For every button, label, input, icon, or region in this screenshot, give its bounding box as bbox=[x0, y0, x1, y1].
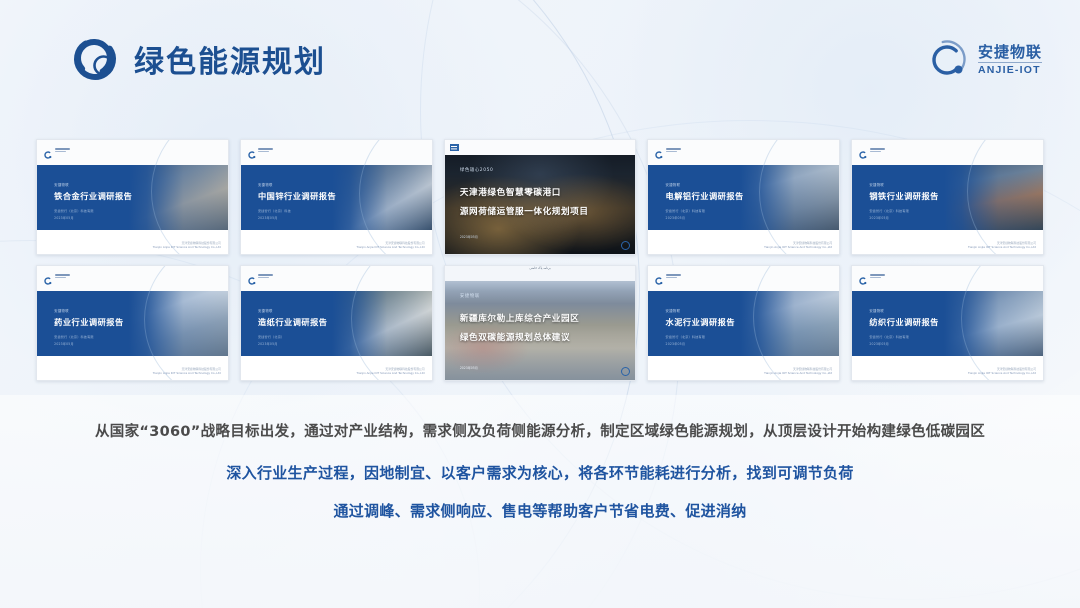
slide-title: 水泥行业调研报告 bbox=[666, 316, 736, 328]
slide-eyebrow: 安捷物联 bbox=[869, 308, 884, 313]
slide-footer: 天津安捷物联科技股份有限公司 Tianjin Anjie IOT Science… bbox=[968, 367, 1036, 375]
slide-logo-icon bbox=[248, 272, 274, 280]
slide-sub-line: 2023年05月 bbox=[666, 341, 706, 346]
slide-logo-icon bbox=[248, 146, 274, 154]
slide-thumbnail-grid: 安捷物联 铁合金行业调研报告 安捷智行（北京）科技有限 2023年05月 天津安… bbox=[36, 139, 1044, 381]
slide-subtitle: 安捷智行（北京）科技 2023年05月 bbox=[258, 208, 291, 220]
slide-title: 药业行业调研报告 bbox=[54, 316, 124, 328]
slide-date: 2023年05月 bbox=[460, 365, 478, 370]
slide-thumbnail[interactable]: 安捷物联 中国锌行业调研报告 安捷智行（北京）科技 2023年05月 天津安捷物… bbox=[240, 139, 433, 255]
anjie-ring-logo-icon bbox=[928, 40, 969, 81]
slide-header-bar bbox=[445, 140, 636, 155]
slide-thumbnail[interactable]: برنامه پاک خامنی 安捷物联 新疆库尔勒上库综合产业园区 绿色双碳… bbox=[444, 265, 637, 381]
slide-title-line-2: 绿色双碳能源规划总体建议 bbox=[460, 331, 570, 343]
slide-footer-en: Tianjin Anjie IOT Science And Technology… bbox=[357, 245, 425, 249]
slide-thumbnail[interactable]: 安捷物联 药业行业调研报告 安捷智行（北京）科技有限 2023年05月 天津安捷… bbox=[36, 265, 229, 381]
slide-arc-decoration bbox=[351, 265, 432, 381]
slide-arc-decoration bbox=[967, 139, 1044, 255]
slide-title-line-2: 源网荷储运管服一体化规划项目 bbox=[460, 205, 589, 217]
company-name-cn: 安捷物联 bbox=[978, 44, 1042, 61]
slide-subtitle: 安捷智行（北京）科技有限 2023年05月 bbox=[869, 334, 909, 346]
slide-thumbnail[interactable]: 安捷物联 钢铁行业调研报告 安捷智行（北京）科技有限 2023年05月 天津安捷… bbox=[851, 139, 1044, 255]
slide-title: 钢铁行业调研报告 bbox=[869, 190, 939, 202]
slide-footer-en: Tianjin Anjie IOT Science And Technology… bbox=[968, 245, 1036, 249]
slide-thumbnail[interactable]: 安捷物联 铁合金行业调研报告 安捷智行（北京）科技有限 2023年05月 天津安… bbox=[36, 139, 229, 255]
summary-line-3: 通过调峰、需求侧响应、售电等帮助客户节省电费、促进消纳 bbox=[0, 500, 1080, 521]
slide-logo-icon bbox=[859, 272, 885, 280]
slide-title: 纺织行业调研报告 bbox=[869, 316, 939, 328]
slide-logo-icon bbox=[655, 146, 681, 154]
slide-subtitle: 安捷智行（北京）科技有限 2023年05月 bbox=[666, 334, 706, 346]
slide-footer: 天津安捷物联科技股份有限公司 Tianjin Anjie IOT Science… bbox=[764, 241, 832, 249]
slide-sub-line: 2023年05月 bbox=[258, 215, 291, 220]
slide-footer: 天津安捷物联科技股份有限公司 Tianjin Anjie IOT Science… bbox=[153, 367, 221, 375]
slide-title-line-1: 天津港绿色智慧零碳港口 bbox=[460, 186, 561, 198]
slide-sub-line: 安捷智行（北京）科技有限 bbox=[666, 334, 706, 339]
slide-arc-decoration bbox=[144, 265, 229, 381]
slide-footer-en: Tianjin Anjie IOT Science And Technology… bbox=[764, 371, 832, 375]
slide-footer-en: Tianjin Anjie IOT Science And Technology… bbox=[153, 245, 221, 249]
slide-title: 造纸行业调研报告 bbox=[258, 316, 328, 328]
slide-title: 铁合金行业调研报告 bbox=[54, 190, 132, 202]
slide-arc-decoration bbox=[961, 265, 1044, 381]
slide-eyebrow: 绿色雄心2050 bbox=[460, 167, 494, 173]
slide-footer: 天津安捷物联科技股份有限公司 Tianjin Anjie IOT Science… bbox=[764, 367, 832, 375]
summary-line-1: 从国家“3060”战略目标出发，通过对产业结构，需求侧及负荷侧能源分析，制定区域… bbox=[0, 420, 1080, 441]
slide-logo-icon bbox=[655, 272, 681, 280]
slide-sub-line: 安捷智行（北京）科技有限 bbox=[869, 208, 909, 213]
slide-eyebrow: 安捷物联 bbox=[869, 182, 884, 187]
slide-thumbnail[interactable]: 绿色雄心2050 天津港绿色智慧零碳港口 源网荷储运管服一体化规划项目 2023… bbox=[444, 139, 637, 255]
slide-subtitle: 安捷智行（北京）科技有限 2023年05月 bbox=[54, 208, 94, 220]
slide-eyebrow: 安捷物联 bbox=[54, 182, 69, 187]
slide-footer-en: Tianjin Anjie IOT Science And Technology… bbox=[357, 371, 425, 375]
slide-arc-decoration bbox=[759, 139, 840, 255]
slide-arc-decoration bbox=[151, 139, 228, 255]
company-name-en: ANJIE-IOT bbox=[978, 62, 1042, 78]
slide-eyebrow: 安捷物联 bbox=[666, 182, 681, 187]
slide-logo-icon bbox=[44, 146, 70, 154]
slide-arc-decoration bbox=[359, 139, 433, 255]
slide-subtitle: 安捷智行（北京）科技有限 2023年05月 bbox=[666, 208, 706, 220]
slide-footer: 天津安捷物联科技股份有限公司 Tianjin Anjie IOT Science… bbox=[153, 241, 221, 249]
slide-title-line-1: 新疆库尔勒上库综合产业园区 bbox=[460, 312, 580, 324]
slide-sub-line: 2023年05月 bbox=[666, 215, 706, 220]
company-logo: 安捷物联 ANJIE-IOT bbox=[928, 40, 1042, 81]
slide-footer-en: Tianjin Anjie IOT Science And Technology… bbox=[153, 371, 221, 375]
slide-header-bar: برنامه پاک خامنی bbox=[445, 266, 636, 281]
page-header: 绿色能源规划 安捷物联 ANJIE-IOT bbox=[0, 0, 1080, 118]
slide-footer-en: Tianjin Anjie IOT Science And Technology… bbox=[968, 371, 1036, 375]
slide-thumbnail[interactable]: 安捷物联 水泥行业调研报告 安捷智行（北京）科技有限 2023年05月 天津安捷… bbox=[647, 265, 840, 381]
slide-thumbnail[interactable]: 安捷物联 纺织行业调研报告 安捷智行（北京）科技有限 2023年05月 天津安捷… bbox=[851, 265, 1044, 381]
slide-sub-line: 安捷智行（北京）科技有限 bbox=[869, 334, 909, 339]
slide-arc-decoration bbox=[753, 265, 840, 381]
slide-eyebrow: 安捷物联 bbox=[666, 308, 681, 313]
slide-sub-line: 安捷智行（北京）科技有限 bbox=[666, 208, 706, 213]
summary-copy: 从国家“3060”战略目标出发，通过对产业结构，需求侧及负荷侧能源分析，制定区域… bbox=[0, 420, 1080, 521]
title-group: 绿色能源规划 bbox=[72, 36, 326, 82]
slide-eyebrow: 安捷物联 bbox=[258, 308, 273, 313]
slide-footer: 天津安捷物联科技股份有限公司 Tianjin Anjie IOT Science… bbox=[357, 241, 425, 249]
slide-sub-line: 2023年05月 bbox=[869, 215, 909, 220]
slide-subtitle: 安捷智行（北京）科技有限 2023年05月 bbox=[869, 208, 909, 220]
page-title: 绿色能源规划 bbox=[134, 37, 326, 81]
slide-sub-line: 安捷智行（北京）科技有限 bbox=[54, 208, 94, 213]
slide-eyebrow: 安捷物联 bbox=[460, 293, 480, 299]
slide-subtitle: 安捷智行（北京）科技有限 2023年05月 bbox=[54, 334, 94, 346]
slide-date: 2023年05月 bbox=[460, 234, 478, 239]
slide-sub-line: 2023年05月 bbox=[258, 341, 284, 346]
slide-sub-line: 安捷智行（北京） bbox=[258, 334, 284, 339]
slide-subtitle: 安捷智行（北京） 2023年05月 bbox=[258, 334, 284, 346]
slide-sub-line: 安捷智行（北京）科技有限 bbox=[54, 334, 94, 339]
slide-sub-line: 2023年05月 bbox=[54, 341, 94, 346]
slide-logo-icon bbox=[450, 144, 459, 151]
slide-thumbnail[interactable]: 安捷物联 造纸行业调研报告 安捷智行（北京） 2023年05月 天津安捷物联科技… bbox=[240, 265, 433, 381]
slide-title: 中国锌行业调研报告 bbox=[258, 190, 336, 202]
slide-sub-line: 2023年05月 bbox=[54, 215, 94, 220]
slide-eyebrow: 安捷物联 bbox=[258, 182, 273, 187]
crescent-circle-logo-icon bbox=[72, 36, 118, 82]
slide-footer: 天津安捷物联科技股份有限公司 Tianjin Anjie IOT Science… bbox=[968, 241, 1036, 249]
slide-sub-line: 2023年05月 bbox=[869, 341, 909, 346]
slide-sub-line: 安捷智行（北京）科技 bbox=[258, 208, 291, 213]
slide-thumbnail[interactable]: 安捷物联 电解铝行业调研报告 安捷智行（北京）科技有限 2023年05月 天津安… bbox=[647, 139, 840, 255]
slide-title: 电解铝行业调研报告 bbox=[666, 190, 744, 202]
slide-logo-icon bbox=[859, 146, 885, 154]
slide-footer-en: Tianjin Anjie IOT Science And Technology… bbox=[764, 245, 832, 249]
summary-line-2: 深入行业生产过程，因地制宜、以客户需求为核心，将各环节能耗进行分析，找到可调节负… bbox=[0, 462, 1080, 483]
slide-eyebrow: 安捷物联 bbox=[54, 308, 69, 313]
slide-logo-icon bbox=[44, 272, 70, 280]
slide-header-foreign-text: برنامه پاک خامنی bbox=[529, 266, 550, 270]
slide-footer: 天津安捷物联科技股份有限公司 Tianjin Anjie IOT Science… bbox=[357, 367, 425, 375]
